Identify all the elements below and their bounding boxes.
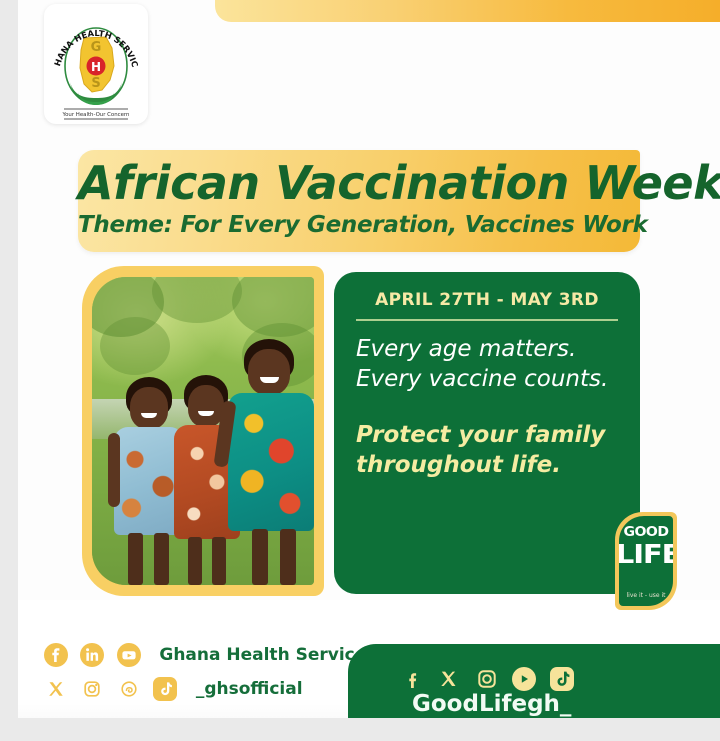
photo-frame [82,266,324,596]
good-life-badge: GOOD LIFE live it - use it [615,512,677,610]
good-life-subtitle: live it - use it [619,592,673,599]
ghs-logo-icon: G H S GHANA HEALTH SERVICE Your Health-O… [44,4,148,124]
goodlife-social-bar: GoodLifegh_ [348,644,720,718]
ghs-logo-tagline: Your Health-Our Concern [62,112,130,118]
poster-canvas: G H S GHANA HEALTH SERVICE Your Health-O… [0,0,720,741]
campaign-photo [92,277,314,585]
photo-child-right [226,345,314,585]
facebook-icon[interactable] [44,643,68,667]
instagram-icon[interactable] [80,677,104,701]
campaign-tagline: Every age matters. Every vaccine counts. [356,334,626,394]
facebook-icon[interactable] [400,667,424,691]
campaign-call-to-action: Protect your family throughout life. [356,420,626,480]
ghs-handle: _ghsofficial [196,679,303,699]
ghs-account-name: Ghana Health Service [159,645,366,665]
campaign-info-panel: APRIL 27TH - MAY 3RD Every age matters. … [334,272,640,594]
x-icon[interactable] [44,677,68,701]
x-icon[interactable] [437,667,461,691]
goodlife-social-icons: GoodLifegh_ [400,667,720,717]
youtube-icon[interactable] [117,643,141,667]
ghs-social-block: Ghana Health Service _ghsofficial [44,643,366,711]
youtube-icon[interactable] [512,667,536,691]
campaign-dates: APRIL 27TH - MAY 3RD [334,290,640,310]
tiktok-icon[interactable] [153,677,177,701]
svg-text:G: G [91,40,102,55]
good-life-word-top: GOOD [619,525,673,540]
good-life-word-bottom: LIFE [619,540,673,570]
top-accent-strip [215,0,720,22]
ghs-social-row-primary: Ghana Health Service [44,643,366,673]
title-banner: African Vaccination Week Theme: For Ever… [78,150,640,252]
threads-icon[interactable] [117,677,141,701]
panel-divider [356,319,618,321]
tiktok-icon[interactable] [550,667,574,691]
cta-line-2: throughout life. [356,450,626,480]
page-title: African Vaccination Week [78,156,640,210]
goodlife-handle: GoodLifegh_ [412,691,571,717]
linkedin-icon[interactable] [80,643,104,667]
svg-text:S: S [91,76,100,91]
instagram-icon[interactable] [475,667,499,691]
cta-line-1: Protect your family [356,420,626,450]
tagline-line-1: Every age matters. [356,334,626,364]
ghs-logo-tile: G H S GHANA HEALTH SERVICE Your Health-O… [44,4,148,124]
ghs-social-row-secondary: _ghsofficial [44,677,366,707]
good-life-badge-inner: GOOD LIFE live it - use it [619,516,673,606]
tagline-line-2: Every vaccine counts. [356,364,626,394]
svg-text:H: H [91,60,101,74]
campaign-theme: Theme: For Every Generation, Vaccines Wo… [78,212,640,238]
